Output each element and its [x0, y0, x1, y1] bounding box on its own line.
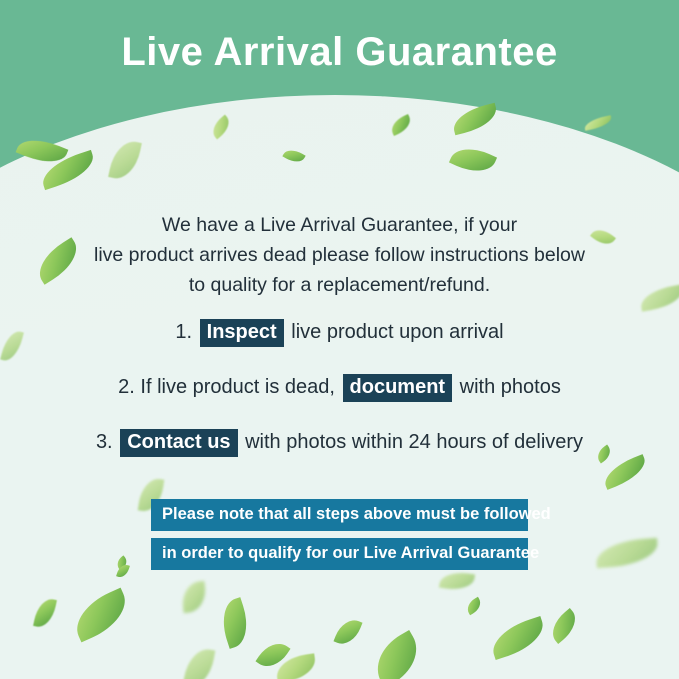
notice-block: Please note that all steps above must be… — [0, 499, 679, 570]
step-2-after: with photos — [460, 376, 561, 398]
steps-list: 1. Inspect live product upon arrival 2. … — [0, 318, 679, 483]
step-3-number: 3. — [96, 431, 113, 453]
notice-line-1: Please note that all steps above must be… — [151, 499, 528, 531]
step-2-number: 2. — [118, 376, 135, 398]
step-3-after: with photos within 24 hours of delivery — [245, 431, 583, 453]
step-1-after: live product upon arrival — [291, 321, 503, 343]
step-item-3: 3. Contact us with photos within 24 hour… — [0, 428, 679, 457]
live-arrival-guarantee-poster: Live Arrival Guarantee We have a Live Ar… — [0, 0, 679, 679]
step-1-highlight: Inspect — [200, 319, 284, 347]
step-item-1: 1. Inspect live product upon arrival — [0, 318, 679, 347]
step-3-highlight: Contact us — [120, 429, 237, 457]
step-2-before: If live product is dead, — [140, 376, 335, 398]
intro-line-3: to quality for a replacement/refund. — [50, 270, 629, 300]
intro-line-1: We have a Live Arrival Guarantee, if you… — [50, 210, 629, 240]
step-2-highlight: document — [343, 374, 453, 402]
poster-content: We have a Live Arrival Guarantee, if you… — [0, 0, 679, 679]
step-1-number: 1. — [175, 321, 192, 343]
intro-paragraph: We have a Live Arrival Guarantee, if you… — [50, 210, 629, 300]
intro-line-2: live product arrives dead please follow … — [50, 240, 629, 270]
step-item-2: 2. If live product is dead, document wit… — [0, 373, 679, 402]
page-title: Live Arrival Guarantee — [0, 30, 679, 75]
notice-line-2: in order to qualify for our Live Arrival… — [151, 538, 528, 570]
